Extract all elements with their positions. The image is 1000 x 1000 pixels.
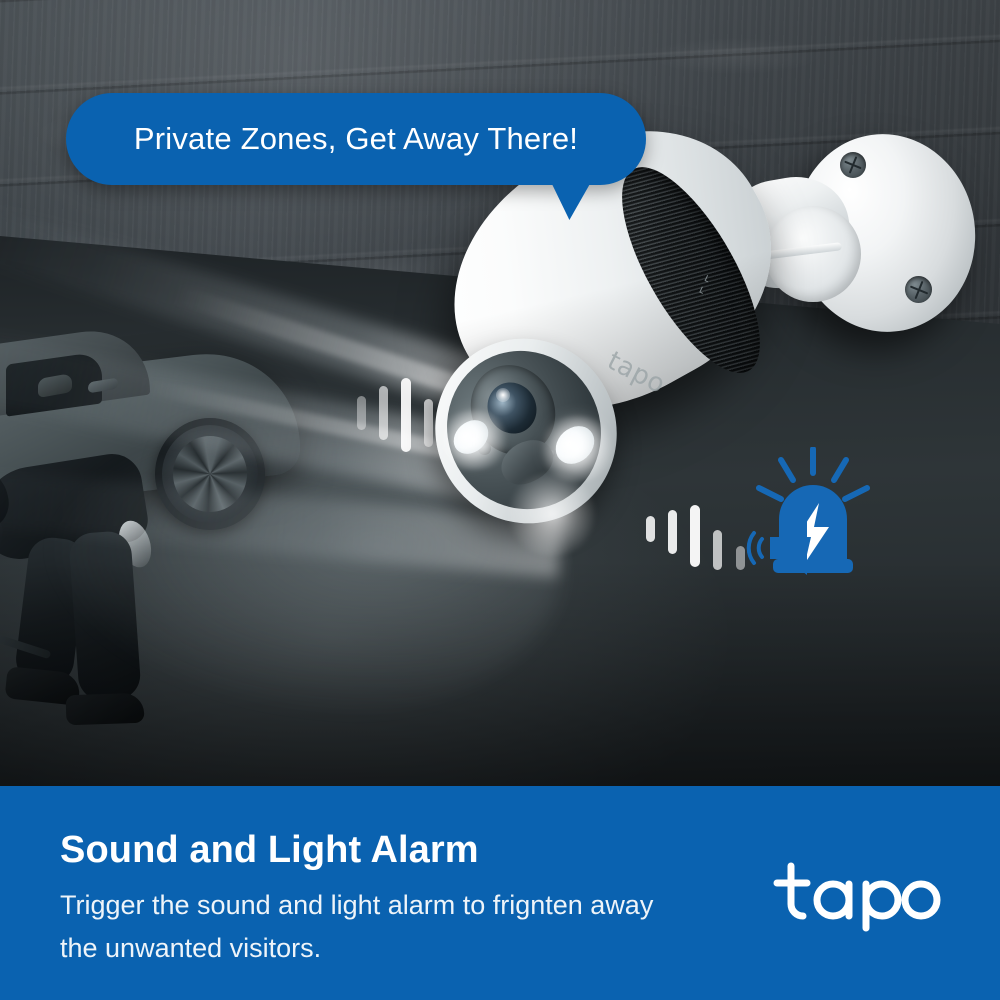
sound-wave-bar bbox=[646, 516, 655, 542]
sound-wave-bar bbox=[690, 505, 700, 567]
sound-wave-bar bbox=[668, 510, 677, 554]
callout-bubble[interactable]: Private Zones, Get Away There! bbox=[66, 93, 646, 185]
led-flare bbox=[436, 410, 512, 470]
sound-wave-bar bbox=[401, 378, 411, 452]
banner-title: Sound and Light Alarm bbox=[60, 829, 479, 872]
sound-wave-bar bbox=[379, 386, 388, 440]
siren-base bbox=[773, 559, 853, 573]
lens-specular-highlight bbox=[496, 388, 510, 402]
banner-body-text: Trigger the sound and light alarm to fri… bbox=[60, 884, 690, 970]
speaker-sound-waves bbox=[749, 533, 762, 563]
wall-grain-knot bbox=[640, 36, 830, 76]
sound-wave-bar bbox=[357, 396, 366, 430]
marketing-banner-image: ⌐⌐ tapo Private Zones, Get Away There! bbox=[0, 0, 1000, 1000]
tapo-logo bbox=[769, 860, 944, 932]
mount-screw bbox=[840, 152, 866, 178]
callout-bubble-text: Private Zones, Get Away There! bbox=[134, 121, 578, 157]
sound-and-light-alarm-icon bbox=[745, 447, 877, 582]
sound-wave-bar bbox=[736, 546, 745, 570]
sound-wave-bar bbox=[713, 530, 722, 570]
led-flare bbox=[504, 472, 600, 556]
mount-screw bbox=[905, 276, 932, 303]
